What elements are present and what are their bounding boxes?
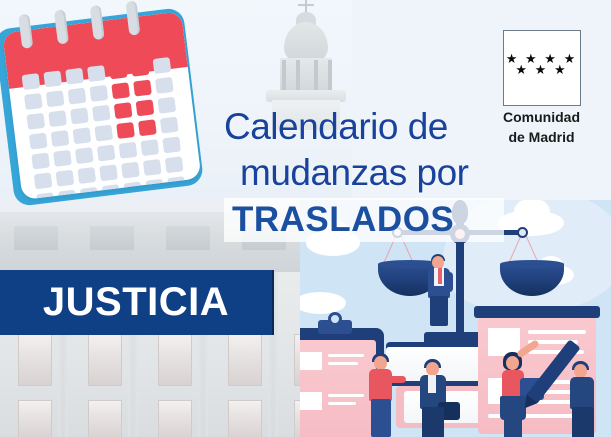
calendar-day-cell [155, 77, 174, 94]
calendar-day-cell [68, 88, 87, 105]
calendar-day-cell [114, 102, 133, 119]
calendar-day-cell [65, 68, 84, 85]
person-on-scales [422, 250, 458, 328]
justicia-banner-label: JUSTICIA [43, 280, 229, 325]
poster-canvas: Calendario de mudanzas por TRASLADOS JUS… [0, 0, 611, 437]
calendar-day-cell [99, 164, 118, 181]
calendar-day-cell [51, 130, 70, 147]
calendar-day-cell [143, 159, 162, 176]
calendar-day-cell [43, 70, 62, 87]
calendar-day-cell [162, 136, 181, 153]
person-with-pen [562, 352, 611, 437]
calendar-day-cell [136, 99, 155, 116]
calendar-day-cell [56, 170, 75, 187]
calendar-day-cell [97, 144, 116, 161]
calendar-day-cell [153, 57, 172, 74]
justicia-banner: JUSTICIA [0, 270, 274, 335]
page-title: Calendario de mudanzas por [224, 104, 494, 196]
calendar-day-cell [73, 127, 92, 144]
highlight-word: TRASLADOS [232, 200, 454, 240]
calendar-day-cell [109, 62, 128, 79]
calendar-day-cell [22, 73, 41, 90]
calendar-day-cell [116, 122, 135, 139]
person-red-shirt [362, 352, 406, 437]
calendar-day-cell [131, 60, 150, 77]
calendar-day-cell [46, 90, 65, 107]
calendar-day-cell [24, 93, 43, 110]
calendar-day-cell [26, 113, 45, 130]
calendar-day-cell [75, 147, 94, 164]
calendar-day-cell [34, 172, 53, 189]
calendar-day-cell [121, 162, 140, 179]
calendar-day-cell [29, 133, 48, 150]
logo-name-line-2: de Madrid [489, 128, 594, 146]
calendar-day-cell [77, 167, 96, 184]
comunidad-de-madrid-logo: ★ ★ ★ ★ ★ ★ ★ Comunidad de Madrid [489, 30, 594, 146]
calendar-day-cell [119, 142, 138, 159]
cloud-icon [300, 292, 346, 314]
calendar-day-cell [138, 119, 157, 136]
calendar-day-cell [89, 85, 108, 102]
calendar-day-cell [87, 65, 106, 82]
calendar-day-cell [111, 82, 130, 99]
calendar-day-cell [165, 156, 184, 173]
logo-name-line-1: Comunidad [489, 108, 594, 126]
calendar-day-cell [31, 153, 50, 170]
logo-box: ★ ★ ★ ★ ★ ★ ★ [503, 30, 581, 106]
title-line-1: Calendario de [224, 104, 494, 150]
title-line-2: mudanzas por [224, 150, 494, 196]
calendar-day-cell [53, 150, 72, 167]
calendar-day-cell [70, 107, 89, 124]
calendar-day-cell [160, 117, 179, 134]
person-with-briefcase [414, 358, 460, 437]
calendar-day-cell [157, 97, 176, 114]
calendar-day-cell [92, 105, 111, 122]
calendar-day-cell [94, 125, 113, 142]
calendar-day-cell [48, 110, 67, 127]
calendar-day-cell [133, 80, 152, 97]
calendar-icon [0, 7, 204, 207]
calendar-day-cell [140, 139, 159, 156]
seven-stars-icon: ★ ★ ★ ★ ★ ★ ★ [504, 31, 580, 75]
